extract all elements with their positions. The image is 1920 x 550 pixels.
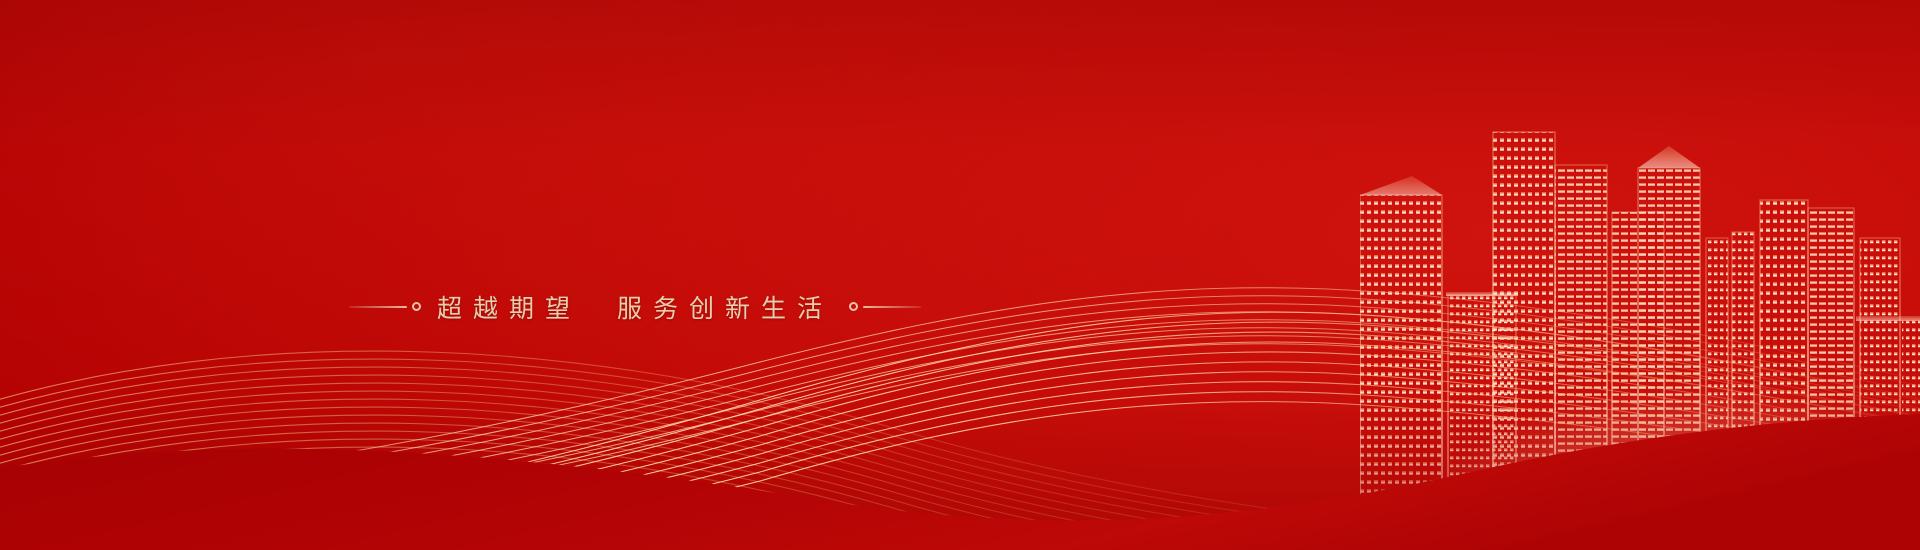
skyline-svg <box>1360 120 1920 550</box>
decoration-bar <box>349 306 407 308</box>
decoration-circle-icon <box>849 302 858 311</box>
decoration-bar <box>863 306 921 308</box>
decoration-circle-icon <box>412 302 421 311</box>
building <box>1856 238 1920 550</box>
right-decoration <box>849 302 921 311</box>
skyline-buildings <box>1360 128 1920 550</box>
building <box>1706 216 1754 550</box>
building <box>1638 128 1700 550</box>
city-skyline-graphic <box>1360 120 1920 550</box>
subtitle-text: 超越期望 服务创新生活 <box>437 289 833 325</box>
page-title: 先锋力量 榜样在身边 <box>0 148 1270 259</box>
left-decoration <box>349 302 421 311</box>
building <box>1808 208 1854 550</box>
headline-block: 先锋力量 榜样在身边 超越期望 服务创新生活 <box>0 148 1270 325</box>
building <box>1493 132 1555 550</box>
building <box>1360 176 1442 550</box>
promotional-banner: 先锋力量 榜样在身边 超越期望 服务创新生活 <box>0 0 1920 550</box>
subtitle-row: 超越期望 服务创新生活 <box>0 289 1270 325</box>
building <box>1555 165 1607 550</box>
building <box>1760 200 1808 550</box>
